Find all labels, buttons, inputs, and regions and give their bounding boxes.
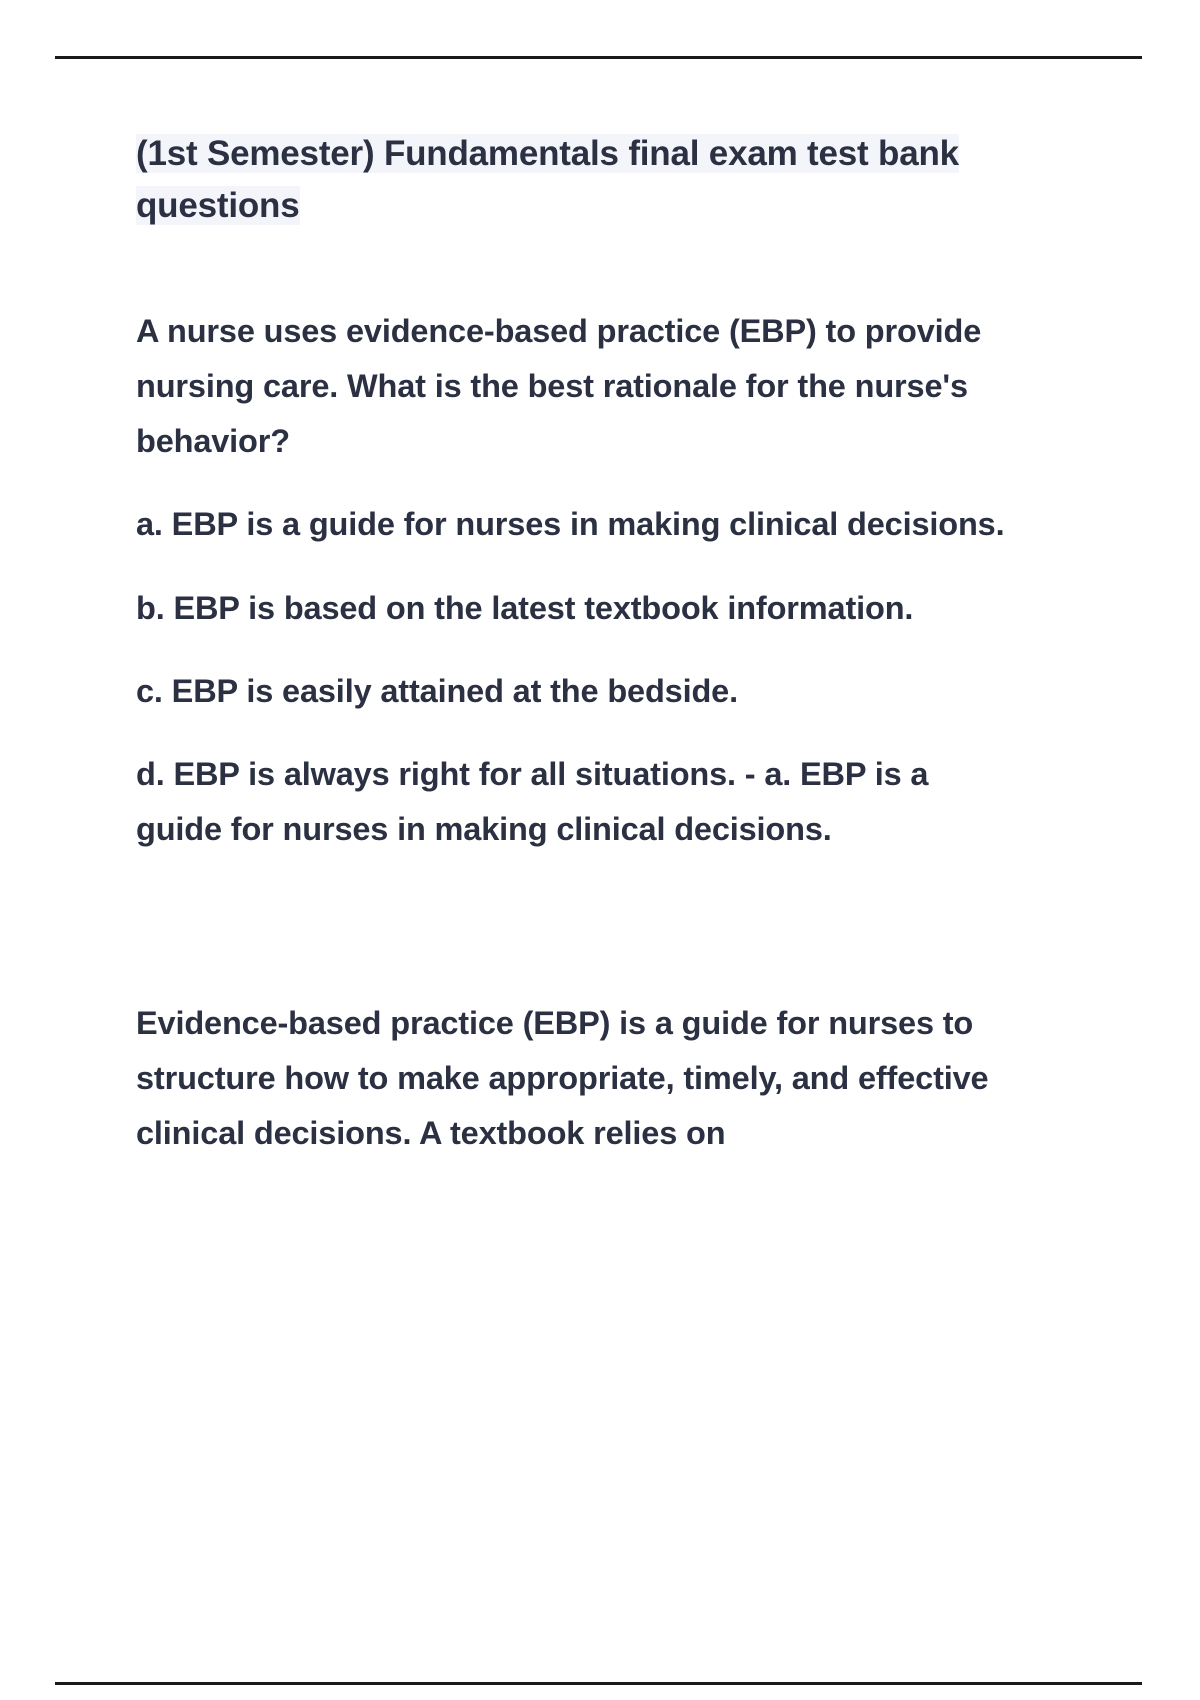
explanation-paragraph: Evidence-based practice (EBP) is a guide…: [136, 996, 1008, 1162]
answer-option-b[interactable]: b. EBP is based on the latest textbook i…: [136, 581, 1008, 636]
answer-option-d[interactable]: d. EBP is always right for all situation…: [136, 747, 1008, 858]
page-title: (1st Semester) Fundamentals final exam t…: [136, 134, 959, 225]
page-title-wrapper: (1st Semester) Fundamentals final exam t…: [136, 128, 1006, 232]
page-header-rule: [55, 56, 1142, 59]
document-page: (1st Semester) Fundamentals final exam t…: [0, 0, 1200, 1700]
question-stem: A nurse uses evidence-based practice (EB…: [136, 304, 1008, 470]
answer-option-a[interactable]: a. EBP is a guide for nurses in making c…: [136, 497, 1008, 552]
answer-option-c[interactable]: c. EBP is easily attained at the bedside…: [136, 664, 1008, 719]
section-spacer: [136, 892, 1016, 996]
document-content: (1st Semester) Fundamentals final exam t…: [136, 128, 1016, 1161]
page-footer-rule: [55, 1682, 1142, 1685]
question-block: A nurse uses evidence-based practice (EB…: [136, 304, 1016, 858]
